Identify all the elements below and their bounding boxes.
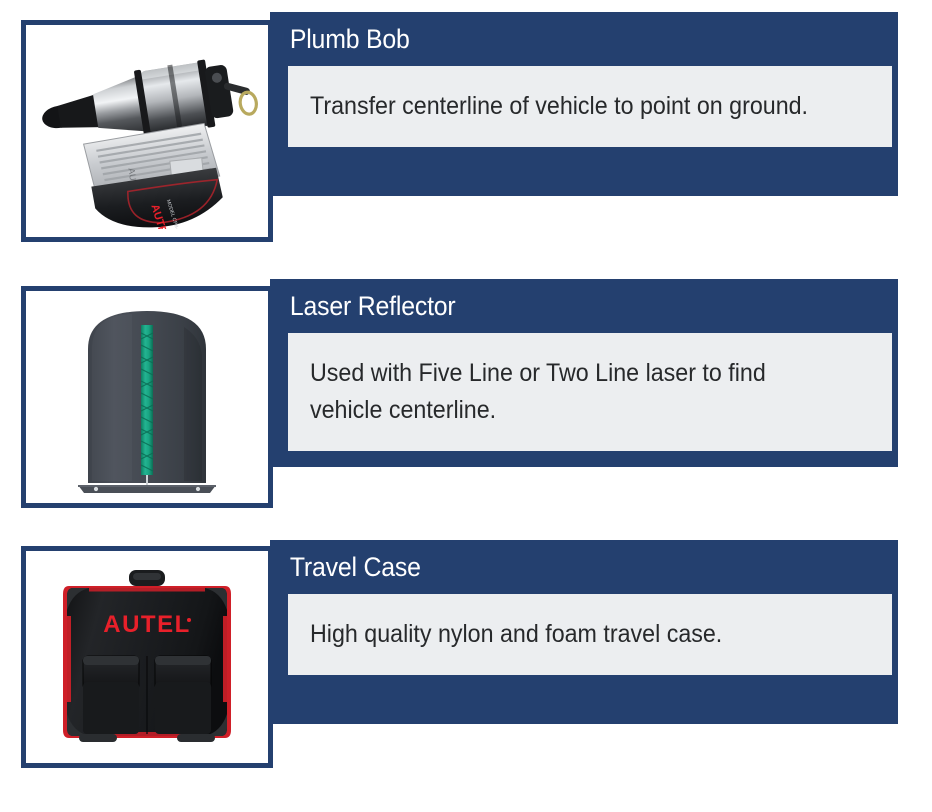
card-description: Used with Five Line or Two Line laser to… <box>310 355 829 429</box>
card-body: High quality nylon and foam travel case. <box>288 594 892 675</box>
card-title: Travel Case <box>288 540 844 594</box>
accessory-card-plumb-bob: AUTEL AUTEL MODEL CPB-1000W Plumb Bob Tr… <box>0 0 932 270</box>
card-description: Transfer centerline of vehicle to point … <box>310 88 829 125</box>
accessory-card-travel-case: AUTEL <box>0 540 932 812</box>
product-image-stage: AUTEL AUTEL MODEL CPB-1000W <box>26 25 268 237</box>
info-panel-plumb-bob: Plumb Bob Transfer centerline of vehicle… <box>270 12 898 196</box>
travel-case-icon: AUTEL <box>59 564 235 750</box>
info-panel-travel-case: Travel Case High quality nylon and foam … <box>270 540 898 724</box>
info-panel-laser-reflector: Laser Reflector Used with Five Line or T… <box>270 279 898 467</box>
accessory-card-sheet: AUTEL AUTEL MODEL CPB-1000W Plumb Bob Tr… <box>0 0 932 812</box>
product-image-stage: AUTEL <box>26 551 268 763</box>
card-description: High quality nylon and foam travel case. <box>310 616 829 653</box>
card-body: Transfer centerline of vehicle to point … <box>288 66 892 147</box>
brand-wordmark: AUTEL <box>103 611 191 638</box>
plumb-bob-icon: AUTEL AUTEL MODEL CPB-1000W <box>33 33 261 229</box>
product-image-stage <box>26 291 268 503</box>
card-body: Used with Five Line or Two Line laser to… <box>288 333 892 451</box>
product-image-frame-travel-case: AUTEL <box>21 546 273 768</box>
accessory-card-laser-reflector: Laser Reflector Used with Five Line or T… <box>0 275 932 540</box>
card-title: Laser Reflector <box>288 279 844 333</box>
card-title: Plumb Bob <box>288 12 844 66</box>
product-image-frame-plumb-bob: AUTEL AUTEL MODEL CPB-1000W <box>21 20 273 242</box>
product-image-frame-laser-reflector <box>21 286 273 508</box>
laser-reflector-icon <box>72 297 222 497</box>
